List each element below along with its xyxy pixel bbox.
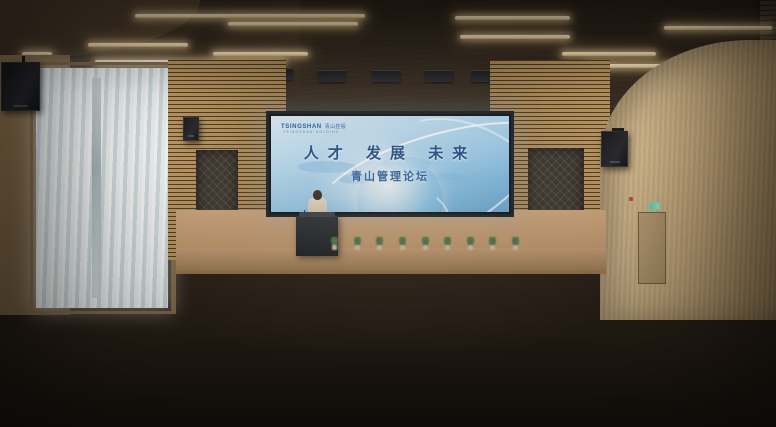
presenter-head [313,190,322,200]
side-door[interactable] [638,212,666,284]
stage-front-edge [176,248,606,274]
ceiling-light-3 [228,22,358,26]
potted-plant [375,237,384,250]
logo-wordmark: TSINGSHAN [281,124,322,130]
ceiling-vent-3 [372,70,400,82]
window-frame [30,62,176,314]
ceiling-light-10 [460,35,570,39]
ceiling-light-12 [562,52,656,56]
ceiling-light-11 [664,26,772,30]
projected-slide: TSINGSHAN 青山控股 TSINGSHAN HOLDING 人才 发展 未… [271,116,509,212]
potted-plant [421,237,430,250]
potted-plant [330,237,339,250]
wall-speaker-right [601,131,628,167]
exit-sign-icon [650,203,659,209]
slide-headline: 人才 发展 未来 [271,142,509,163]
potted-plant [443,237,452,250]
ceiling-light-5 [88,43,188,47]
ceiling-vent-4 [425,70,453,82]
projection-screen: TSINGSHAN 青山控股 TSINGSHAN HOLDING 人才 发展 未… [266,111,514,217]
potted-plant [488,237,497,250]
logo-chinese-name: 青山控股 [325,123,347,130]
ceiling-vent-2 [318,70,346,82]
stage-plant-row [330,232,520,250]
ceiling-light-1 [135,14,365,18]
potted-plant [466,237,475,250]
potted-plant [398,237,407,250]
slide-logo: TSINGSHAN 青山控股 TSINGSHAN HOLDING [281,123,346,130]
ceiling-light-2 [455,16,570,20]
fire-alarm-icon [629,197,633,201]
logo-subtext: TSINGSHAN HOLDING [283,130,340,134]
wall-speaker-left [1,62,40,111]
ceiling-light-7 [213,52,308,56]
conference-hall-photo: TSINGSHAN 青山控股 TSINGSHAN HOLDING 人才 发展 未… [0,0,776,427]
potted-plant [511,237,520,250]
slide-subtitle: 青山管理论坛 [271,168,509,184]
wall-speaker-mid [183,117,199,141]
potted-plant [353,237,362,250]
